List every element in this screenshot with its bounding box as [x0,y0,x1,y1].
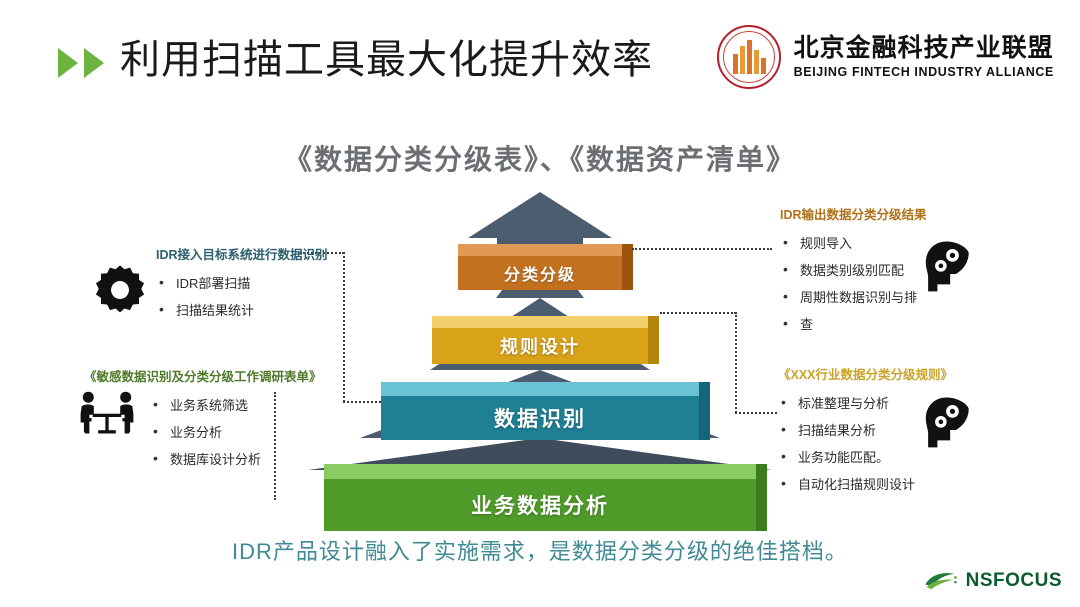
annotation-left-top: IDR接入目标系统进行数据识别 IDR部署扫描 扫描结果统计 [92,244,328,324]
connector-left-top-v [343,252,345,402]
level-3-label-face: 业务数据分析 [324,479,756,531]
level-3-side-face [756,464,767,531]
gear-icon [92,262,148,318]
pyramid-level-1[interactable]: 规则设计 [432,316,648,364]
annotation-right-top: IDR输出数据分类分级结果 规则导入 数据类别级别匹配 周期性数据识别与排 查 [780,204,927,338]
brand-name-cn: 北京金融科技产业联盟 [794,35,1054,61]
connector-right-bottom-h [660,312,736,314]
level-1-side-face [648,316,659,364]
slide: 利用扫描工具最大化提升效率 北京金融科技产业联盟 BEIJING FINTECH… [0,0,1080,607]
level-3-top-face [324,464,756,479]
annotation-heading: 《敏感数据识别及分类分级工作调研表单》 [84,366,322,385]
beijing-fintech-seal-icon [717,25,781,89]
annotation-heading: IDR输出数据分类分级结果 [780,204,927,223]
slide-header: 利用扫描工具最大化提升效率 北京金融科技产业联盟 BEIJING FINTECH… [0,0,1080,105]
pyramid-level-2[interactable]: 数据识别 [381,382,699,440]
list-item: 业务分析 [150,419,322,446]
double-chevron-right-icon [58,48,110,78]
subtitle: 《数据分类分级表》、《数据资产清单》 [0,138,1080,178]
pyramid-diagram: 分类分级 规则设计 数据识别 业务数据分析 [290,192,790,517]
annotation-heading: 《XXX行业数据分类分级规则》 [778,364,953,383]
page-title: 利用扫描工具最大化提升效率 [120,27,653,85]
list-item: 数据类别级别匹配 [780,257,927,284]
annotation-right-bottom: 《XXX行业数据分类分级规则》 标准整理与分析 扫描结果分析 业务功能匹配。 自… [778,364,953,498]
pyramid-level-label: 分类分级 [504,261,576,285]
pyramid-level-3[interactable]: 业务数据分析 [324,464,756,531]
list-item: 周期性数据识别与排 [780,284,927,311]
list-item: 扫描结果统计 [156,297,328,324]
list-item-continuation: 查 [780,311,927,338]
brand-name-en: BEIJING FINTECH INDUSTRY ALLIANCE [794,65,1054,79]
annotation-list: 业务系统筛选 业务分析 数据库设计分析 [150,392,322,473]
level-2-side-face [699,382,710,440]
level-1-top-face [432,316,648,328]
level-0-top-face [458,244,622,256]
list-item: 自动化扫描规则设计 [778,471,953,498]
annotation-list: IDR部署扫描 扫描结果统计 [156,270,328,324]
list-item: 数据库设计分析 [150,446,322,473]
list-item: IDR部署扫描 [156,270,328,297]
annotation-left-bottom: 《敏感数据识别及分类分级工作调研表单》 业务系统筛选 业务分析 数据库设计分析 [68,366,322,473]
bottom-caption: IDR产品设计融入了实施需求，是数据分类分级的绝佳搭档。 [0,534,1080,566]
pyramid-level-label: 业务数据分析 [471,490,609,520]
level-0-label-face: 分类分级 [458,256,622,290]
connector-right-top-h [632,248,772,250]
connector-right-bottom-h2 [735,412,777,414]
head-with-gears-icon [920,238,978,296]
level-2-top-face [381,382,699,396]
connector-left-top-h2 [343,401,381,403]
pyramid-level-label: 数据识别 [494,403,586,433]
head-with-gears-icon [920,394,978,452]
brand-logo: 北京金融科技产业联盟 BEIJING FINTECH INDUSTRY ALLI… [717,24,1054,90]
level-0-side-face [622,244,633,290]
annotation-heading: IDR接入目标系统进行数据识别 [156,244,328,263]
nsfocus-logo-text: NSFOCUS [966,570,1062,592]
meeting-people-icon [74,388,140,446]
up-arrow-icon [468,192,612,238]
annotation-list: 规则导入 数据类别级别匹配 周期性数据识别与排 查 [780,230,927,338]
level-1-label-face: 规则设计 [432,328,648,364]
list-item: 规则导入 [780,230,927,257]
connector-right-bottom-v [735,312,737,413]
pyramid-level-0[interactable]: 分类分级 [458,244,622,290]
pyramid-level-label: 规则设计 [500,333,580,359]
list-item: 业务系统筛选 [150,392,322,419]
nsfocus-swoosh-icon [923,569,959,593]
level-2-label-face: 数据识别 [381,396,699,440]
nsfocus-logo: NSFOCUS [923,569,1062,593]
